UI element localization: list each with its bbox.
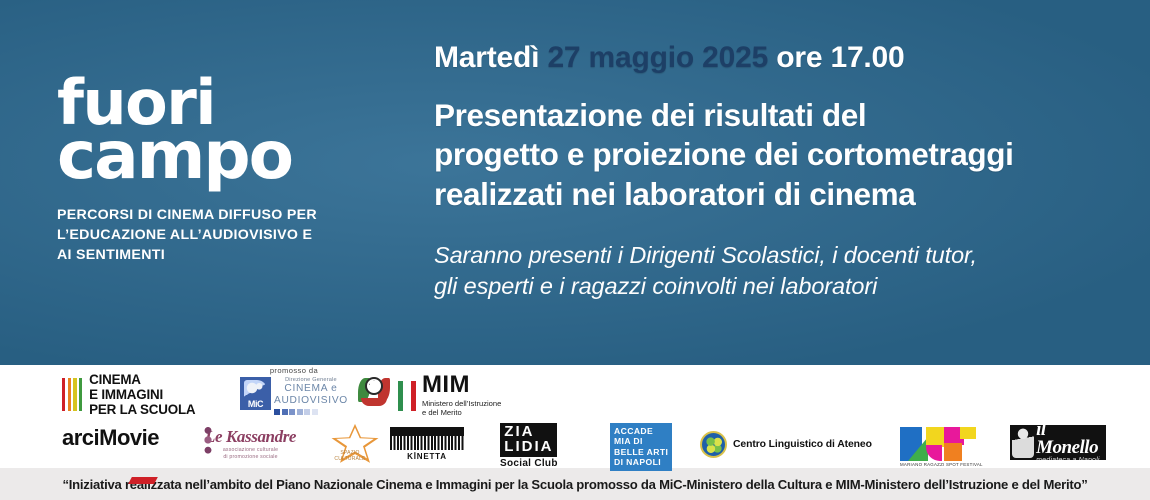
accademia-line-1: ACCADE xyxy=(614,426,668,436)
arcimovie-label: arciMovie xyxy=(62,425,159,451)
cinema-immagini-line-2: E IMMAGINI xyxy=(89,387,195,402)
italian-flag-icon xyxy=(398,381,416,411)
promosso-da-label: promosso da xyxy=(240,366,348,375)
footer-caption-band: “Iniziativa realizzata nell’ambito del P… xyxy=(0,468,1150,500)
mic-acronym: MiC xyxy=(248,400,263,411)
mic-line-2: AUDIOVISIVO xyxy=(274,395,348,407)
mic-mark-icon: MiC xyxy=(240,377,271,410)
logo-cinema-immagini-scuola: CINEMA E IMMAGINI PER LA SCUOLA xyxy=(62,372,195,417)
mic-face-icon xyxy=(244,380,267,401)
brand-tagline-line-2: L’EDUCAZIONE ALL’AUDIOVISIVO E xyxy=(57,225,420,245)
cinema-immagini-bars-icon xyxy=(62,378,82,411)
arcimovie-slash-icon xyxy=(128,477,158,484)
hero-banner: fuori campo PERCORSI DI CINEMA DIFFUSO P… xyxy=(0,0,1150,365)
event-note-line-2: gli esperti e i ragazzi coinvolti nei la… xyxy=(434,271,1130,302)
footer-caption-text: “Iniziativa realizzata nell’ambito del P… xyxy=(62,477,1087,492)
event-copy-block: Martedì 27 maggio 2025 ore 17.00 Present… xyxy=(420,0,1150,365)
logo-spazio-culturale: SPAZIO CULTURALE xyxy=(330,423,380,465)
logo-mrsf-festival: MARIANO RAGAZZI SPOT FESTIVAL xyxy=(900,427,983,467)
logo-centro-linguistico-ateneo: Centro Linguistico di Ateneo xyxy=(700,431,872,458)
event-date-accent: 27 maggio 2025 xyxy=(547,41,768,74)
kassandre-sub-line-2: di promozione sociale xyxy=(205,454,296,461)
logo-arcimovie: arciMovie xyxy=(62,425,159,451)
mim-sub-line-2: e del Merito xyxy=(422,408,501,417)
event-time-label: ore 17.00 xyxy=(776,41,904,74)
brand-word-campo: campo xyxy=(57,129,420,183)
mic-line-1: CINEMA e xyxy=(274,383,348,395)
logo-le-kassandre: Le Kassandre associazione culturale di p… xyxy=(205,427,296,461)
mic-dots-icon xyxy=(274,409,348,415)
mim-acronym: MIM xyxy=(422,374,501,397)
monello-mark: il Monello mediateca a Napoli xyxy=(1010,425,1106,460)
cinema-immagini-text: CINEMA E IMMAGINI PER LA SCUOLA xyxy=(89,372,195,417)
accademia-line-3: BELLE ARTI xyxy=(614,447,668,457)
spazio-star-icon: SPAZIO CULTURALE xyxy=(330,423,380,465)
logo-repubblica-italiana-emblem xyxy=(358,373,390,407)
zia-lidia-line-1: ZIA xyxy=(504,424,553,439)
event-day-label: Martedì xyxy=(434,41,539,74)
event-dateline: Martedì 27 maggio 2025 ore 17.00 xyxy=(434,42,1130,74)
logo-kinetta: KİNETTA xyxy=(390,427,464,461)
cinema-immagini-line-1: CINEMA xyxy=(89,372,195,387)
logo-zia-lidia-social-club: ZIA LIDIA Social Club xyxy=(500,423,558,469)
brand-tagline-line-1: PERCORSI DI CINEMA DIFFUSO PER xyxy=(57,205,420,225)
accademia-line-2: MIA DI xyxy=(614,436,668,446)
kassandre-name: Le Kassandre xyxy=(205,427,296,447)
centro-linguistico-label: Centro Linguistico di Ateneo xyxy=(733,439,872,450)
event-note-line-1: Saranno presenti i Dirigenti Scolastici,… xyxy=(434,240,1130,271)
monello-name: il Monello xyxy=(1036,425,1106,457)
brand-tagline: PERCORSI DI CINEMA DIFFUSO PER L’EDUCAZI… xyxy=(57,205,420,265)
accademia-line-4: DI NAPOLI xyxy=(614,457,668,467)
logo-mic-direzione-generale: promosso da MiC Direzione Generale CINEM… xyxy=(240,366,348,415)
zia-lidia-sub: Social Club xyxy=(500,458,558,469)
kassandre-sub-line-1: associazione culturale xyxy=(205,447,296,454)
sponsor-logo-strip: CINEMA E IMMAGINI PER LA SCUOLA promosso… xyxy=(0,365,1150,468)
spazio-line-2: CULTURALE xyxy=(332,456,368,462)
event-poster: fuori campo PERCORSI DI CINEMA DIFFUSO P… xyxy=(0,0,1150,500)
event-headline-line-2: progetto e proiezione dei cortometraggi xyxy=(434,135,1130,175)
brand-block: fuori campo PERCORSI DI CINEMA DIFFUSO P… xyxy=(0,0,420,365)
centro-linguistico-seal-icon xyxy=(700,431,727,458)
event-note: Saranno presenti i Dirigenti Scolastici,… xyxy=(434,240,1130,302)
kassandre-mark-icon xyxy=(201,425,215,459)
monello-sub: mediateca a Napoli xyxy=(1036,457,1106,460)
monello-figure-icon xyxy=(1012,427,1034,458)
event-headline-line-1: Presentazione dei risultati del xyxy=(434,96,1130,136)
mrsf-mark-icon xyxy=(900,427,978,461)
logo-accademia-belle-arti-napoli: ACCADE MIA DI BELLE ARTI DI NAPOLI xyxy=(610,423,672,471)
cinema-immagini-line-3: PER LA SCUOLA xyxy=(89,402,195,417)
zia-lidia-line-2: LIDIA xyxy=(504,439,553,454)
kinetta-label: KİNETTA xyxy=(390,452,464,461)
zia-lidia-mark: ZIA LIDIA xyxy=(500,423,557,457)
logo-mim-ministero-istruzione: MIM Ministero dell’Istruzione e del Meri… xyxy=(398,374,501,418)
repubblica-emblem-icon xyxy=(358,373,390,407)
mrsf-sub-label: MARIANO RAGAZZI SPOT FESTIVAL xyxy=(900,462,983,467)
event-headline-line-3: realizzati nei laboratori di cinema xyxy=(434,175,1130,215)
kinetta-comb-icon xyxy=(390,427,464,450)
mim-sub-line-1: Ministero dell’Istruzione xyxy=(422,399,501,408)
logo-il-monello: il Monello mediateca a Napoli xyxy=(1010,425,1106,460)
brand-tagline-line-3: AI SENTIMENTI xyxy=(57,245,420,265)
event-headline: Presentazione dei risultati del progetto… xyxy=(434,96,1130,215)
